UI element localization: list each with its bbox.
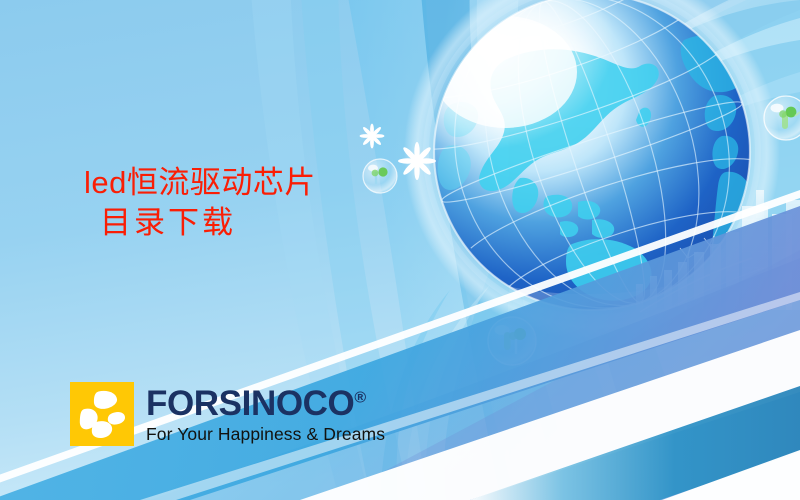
brand-tagline: For Your Happiness & Dreams — [146, 426, 385, 444]
brand-name: FORSINOCO® — [146, 386, 385, 421]
brand-logo: FORSINOCO® For Your Happiness & Dreams — [70, 382, 385, 446]
headline-line-1: led恒流驱动芯片 — [84, 163, 504, 203]
bubble-right — [764, 96, 800, 140]
forsinoco-logo-mark — [70, 382, 134, 446]
registered-trademark-icon: ® — [354, 389, 365, 406]
daisy-small-icon — [360, 124, 385, 149]
headline-block: led恒流驱动芯片 目录下载 — [84, 163, 504, 244]
headline-line-2: 目录下载 — [84, 203, 504, 243]
brand-name-text: FORSINOCO — [146, 384, 354, 423]
four-petal-flower-icon — [70, 382, 134, 446]
brand-wordmark: FORSINOCO® For Your Happiness & Dreams — [146, 382, 385, 444]
cover-canvas: led恒流驱动芯片 目录下载 FORSINOCO® — [0, 0, 800, 500]
